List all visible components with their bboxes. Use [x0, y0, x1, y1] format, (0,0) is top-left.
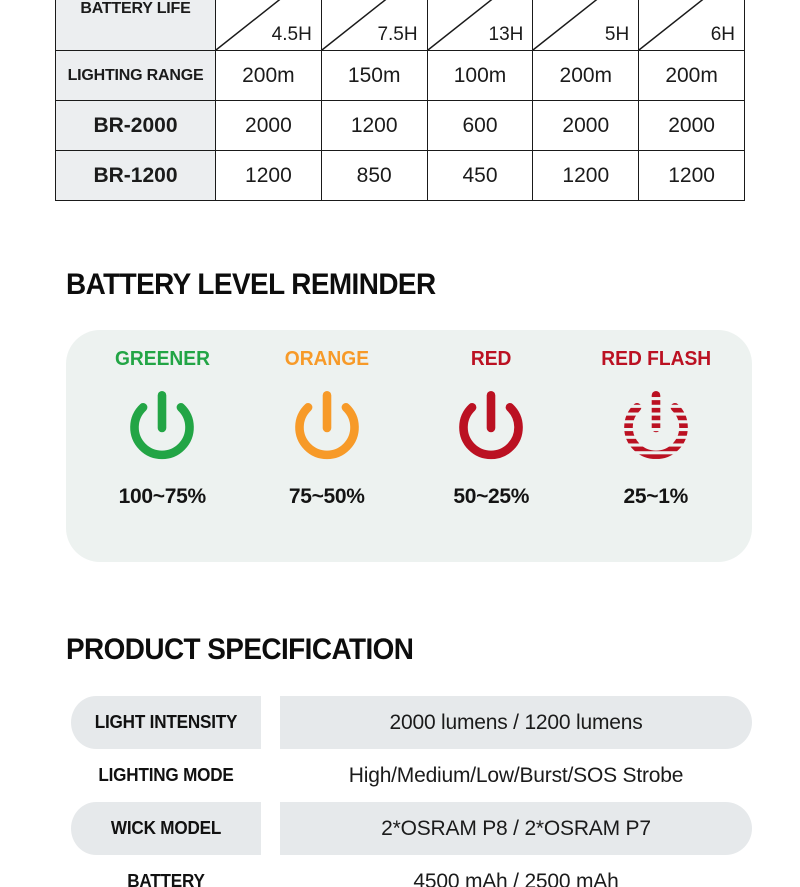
table-cell: 150m	[321, 51, 427, 101]
battery-level-name: ORANGE	[285, 348, 369, 371]
battery-level-item: RED FLASH25~1%	[574, 348, 739, 548]
battery-level-range: 75~50%	[289, 485, 365, 509]
table-cell-split: 4H4.5H	[216, 0, 322, 51]
battery-level-heading: BATTERY LEVEL REMINDER	[66, 268, 436, 302]
battery-level-card: GREENER100~75%ORANGE75~50%RED50~25%RED F…	[66, 330, 752, 562]
table-row: BR-20002000120060020002000	[56, 101, 745, 151]
table-cell-value-bottom: 7.5H	[377, 25, 417, 44]
product-specification-list: LIGHT INTENSITY2000 lumens / 1200 lumens…	[66, 696, 752, 887]
table-cell: 2000	[533, 101, 639, 151]
table-cell-split: 10H6H	[639, 0, 745, 51]
power-icon	[284, 371, 370, 471]
spec-row: WICK MODEL2*OSRAM P8 / 2*OSRAM P7	[66, 802, 752, 855]
table-cell: 1200	[533, 151, 639, 201]
spec-row-value: High/Medium/Low/Burst/SOS Strobe	[280, 749, 752, 802]
table-row: BR-1200120085045012001200	[56, 151, 745, 201]
spec-row-value: 4500 mAh / 2500 mAh	[280, 855, 752, 887]
table-cell-value-bottom: 5H	[605, 25, 629, 44]
table-cell-split: 10H5H	[533, 0, 639, 51]
table-row: BATTERY LIFE4H4.5H6H7.5H8H13H10H5H10H6H	[56, 0, 745, 51]
spec-row-label: WICK MODEL	[71, 802, 261, 855]
product-specification-heading: PRODUCT SPECIFICATION	[66, 633, 413, 667]
spec-row: LIGHTING MODEHigh/Medium/Low/Burst/SOS S…	[66, 749, 752, 802]
table-cell-value-bottom: 13H	[489, 25, 524, 44]
battery-level-range: 25~1%	[624, 485, 688, 509]
table-cell-value-bottom: 4.5H	[272, 25, 312, 44]
battery-level-item: ORANGE75~50%	[245, 348, 410, 548]
power-icon	[119, 385, 205, 471]
battery-level-item: RED50~25%	[409, 348, 574, 548]
spec-row-label: LIGHT INTENSITY	[71, 696, 261, 749]
table-cell: 850	[321, 151, 427, 201]
spec-row-label: BATTERY	[71, 855, 261, 887]
spec-row: LIGHT INTENSITY2000 lumens / 1200 lumens	[66, 696, 752, 749]
table-row-label: BR-1200	[56, 151, 216, 201]
battery-level-name: GREENER	[115, 348, 210, 371]
table-row: LIGHTING RANGE200m150m100m200m200m	[56, 51, 745, 101]
table-cell: 450	[427, 151, 533, 201]
table-cell: 1200	[639, 151, 745, 201]
power-icon	[448, 385, 534, 471]
power-flash-icon	[613, 371, 699, 471]
table-cell: 2000	[216, 101, 322, 151]
spec-row-value: 2000 lumens / 1200 lumens	[280, 696, 752, 749]
product-info-page: BATTERY LIFE4H4.5H6H7.5H8H13H10H5H10H6HL…	[0, 0, 800, 887]
battery-level-range: 100~75%	[119, 485, 206, 509]
power-icon	[119, 371, 205, 471]
power-icon	[448, 371, 534, 471]
spec-row: BATTERY4500 mAh / 2500 mAh	[66, 855, 752, 887]
table-row-label: BATTERY LIFE	[56, 0, 216, 51]
table-cell: 100m	[427, 51, 533, 101]
battery-level-name: RED FLASH	[601, 348, 711, 371]
table-cell-split: 6H7.5H	[321, 0, 427, 51]
power-icon	[284, 385, 370, 471]
power-flash-icon	[613, 385, 699, 471]
table-row-label: LIGHTING RANGE	[56, 51, 216, 101]
battery-spec-table: BATTERY LIFE4H4.5H6H7.5H8H13H10H5H10H6HL…	[55, 0, 745, 201]
table-cell: 200m	[639, 51, 745, 101]
battery-level-range: 50~25%	[453, 485, 529, 509]
table-cell-value-bottom: 6H	[711, 25, 735, 44]
table-cell: 200m	[533, 51, 639, 101]
spec-row-label: LIGHTING MODE	[71, 749, 261, 802]
spec-row-value: 2*OSRAM P8 / 2*OSRAM P7	[280, 802, 752, 855]
table-cell-split: 8H13H	[427, 0, 533, 51]
table-row-label: BR-2000	[56, 101, 216, 151]
table-cell: 1200	[321, 101, 427, 151]
table-cell: 2000	[639, 101, 745, 151]
table-cell: 600	[427, 101, 533, 151]
table-cell: 200m	[216, 51, 322, 101]
battery-level-name: RED	[471, 348, 512, 371]
table-cell: 1200	[216, 151, 322, 201]
battery-level-item: GREENER100~75%	[80, 348, 245, 548]
